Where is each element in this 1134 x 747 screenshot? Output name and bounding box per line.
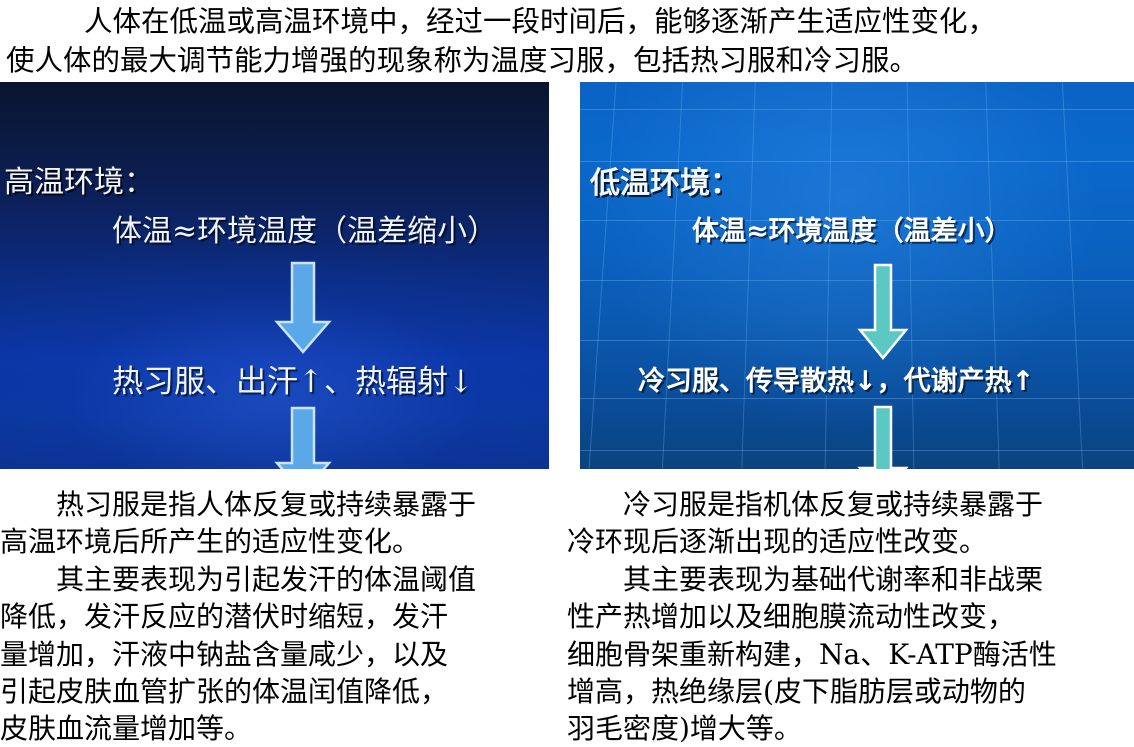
hot-environment-diagram: 高温环境： 体温≈环境温度（温差缩小） 热习服、出汗↑、热辐射↓ 维持体温 <box>0 82 549 469</box>
header-line-1: 人体在低温或高温环境中，经过一段时间后，能够逐渐产生适应性变化， <box>4 2 1130 41</box>
cold-body-line: 细胞骨架重新构建，Na、K-ATP酶活性 <box>567 636 1127 673</box>
cold-flow-row-2: 冷习服、传导散热↓，代谢产热↑ <box>638 363 1034 401</box>
cold-body-line: 冷环现后逐渐出现的适应性改变。 <box>567 523 1127 560</box>
slide-page: 人体在低温或高温环境中，经过一段时间后，能够逐渐产生适应性变化， 使人体的最大调… <box>0 0 1134 747</box>
hot-body-line: 其主要表现为引起发汗的体温阈值 <box>0 561 560 598</box>
cold-body-line: 冷习服是指机体反复或持续暴露于 <box>567 486 1127 523</box>
cold-panel-title: 低温环境： <box>590 167 740 201</box>
hot-body-line: 皮肤血流量增加等。 <box>0 710 560 747</box>
header-paragraph: 人体在低温或高温环境中，经过一段时间后，能够逐渐产生适应性变化， 使人体的最大调… <box>0 2 1134 82</box>
hot-body-line: 热习服是指人体反复或持续暴露于 <box>0 486 560 523</box>
hot-flow-row-2: 热习服、出汗↑、热辐射↓ <box>112 361 474 403</box>
cold-body-line: 增高，热绝缘层(皮下脂肪层或动物的 <box>567 673 1127 710</box>
cold-description-column: 冷习服是指机体反复或持续暴露于 冷环现后逐渐出现的适应性改变。 其主要表现为基础… <box>567 486 1127 747</box>
down-arrow-icon <box>855 262 911 366</box>
hot-flow-row-1: 体温≈环境温度（温差缩小） <box>112 212 497 252</box>
hot-body-line: 量增加，汗液中钠盐含量咸少，以及 <box>0 636 560 673</box>
cold-body-line: 其主要表现为基础代谢率和非战栗 <box>567 561 1127 598</box>
hot-body-line: 降低，发汗反应的潜伏时缩短，发汗 <box>0 598 560 635</box>
header-line-2: 使人体的最大调节能力增强的现象称为温度习服，包括热习服和冷习服。 <box>4 41 1130 80</box>
cold-flow-row-1: 体温≈环境温度（温差小） <box>692 213 1012 251</box>
cold-body-line: 羽毛密度)增大等。 <box>567 710 1127 747</box>
down-arrow-icon <box>273 260 333 360</box>
hot-body-line: 高温环境后所产生的适应性变化。 <box>0 523 560 560</box>
down-arrow-icon <box>273 405 333 469</box>
cold-body-line: 性产热增加以及细胞膜流动性改变， <box>567 598 1127 635</box>
hot-panel-title: 高温环境： <box>4 166 154 200</box>
hot-description-column: 热习服是指人体反复或持续暴露于 高温环境后所产生的适应性变化。 其主要表现为引起… <box>0 486 560 747</box>
down-arrow-icon <box>855 404 911 469</box>
cold-environment-diagram: 低温环境： 体温≈环境温度（温差小） 冷习服、传导散热↓，代谢产热↑ 维持体温 <box>580 82 1134 469</box>
hot-body-line: 引起皮肤血管扩张的体温闰值降低， <box>0 673 560 710</box>
